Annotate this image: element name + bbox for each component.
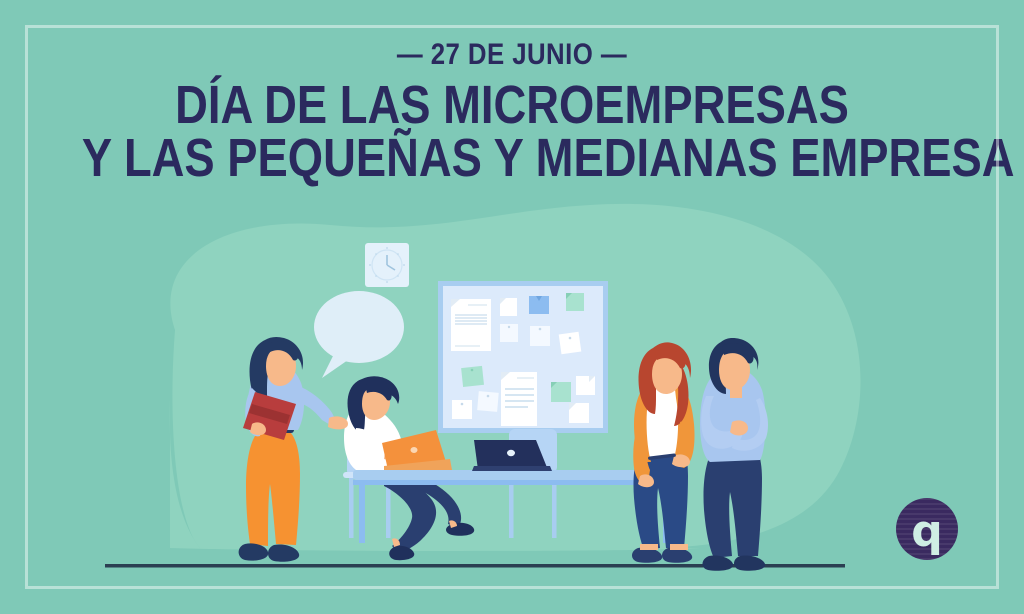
pinned-note	[452, 400, 472, 419]
pinned-document	[501, 372, 537, 426]
poster-canvas: — 27 DE JUNIO — DÍA DE LAS MICROEMPRESAS…	[0, 0, 1024, 614]
pinned-note	[576, 376, 595, 395]
pinned-note	[566, 293, 584, 311]
pinned-note	[529, 296, 549, 314]
pinned-note	[461, 366, 484, 387]
eyebrow-date: — 27 DE JUNIO —	[72, 38, 953, 71]
page-title: DÍA DE LAS MICROEMPRESAS Y LAS PEQUEÑAS …	[0, 79, 1024, 185]
pinned-document	[451, 299, 491, 351]
pinned-note	[569, 403, 589, 423]
pinboard	[438, 281, 608, 433]
pinned-note	[551, 382, 571, 402]
logo-letter: q	[911, 510, 943, 554]
pinned-note	[477, 391, 499, 412]
floor-line	[105, 564, 845, 568]
headline-line-1: DÍA DE LAS MICROEMPRESAS	[82, 79, 942, 132]
pinned-note	[500, 298, 517, 316]
pinned-note	[530, 326, 550, 346]
wall-clock-icon	[365, 243, 409, 287]
pinned-note	[559, 332, 582, 355]
headline-line-2: Y LAS PEQUEÑAS Y MEDIANAS EMPRESA	[82, 132, 942, 185]
text-block: — 27 DE JUNIO — DÍA DE LAS MICROEMPRESAS…	[0, 38, 1024, 185]
pinned-note	[500, 324, 518, 342]
brand-logo[interactable]: q	[896, 498, 958, 560]
